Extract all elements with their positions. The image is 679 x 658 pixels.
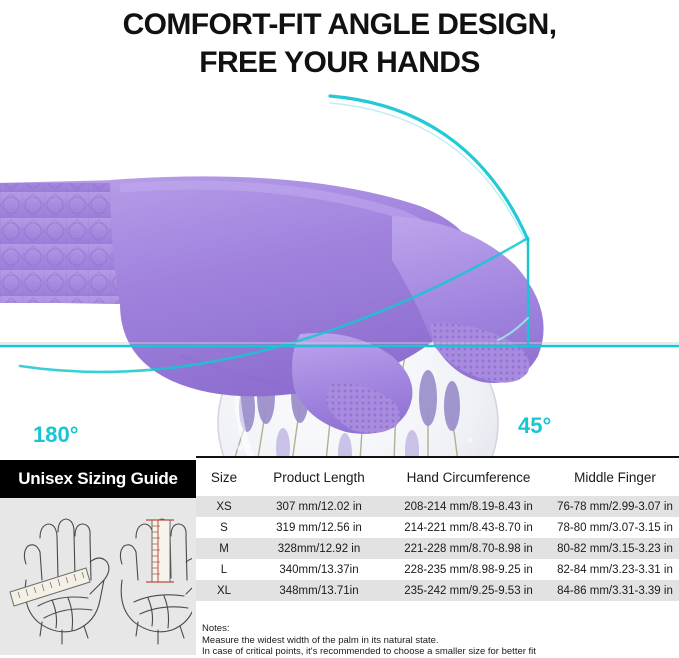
cell-product-length: 328mm/12.92 in — [252, 538, 386, 559]
cell-hand-circumference: 235-242 mm/9.25-9.53 in — [386, 580, 551, 601]
cell-size: XL — [196, 580, 252, 601]
table-row: XS 307 mm/12.02 in 208-214 mm/8.19-8.43 … — [196, 496, 679, 517]
table-row: S 319 mm/12.56 in 214-221 mm/8.43-8.70 i… — [196, 517, 679, 538]
cell-middle-finger: 82-84 mm/3.23-3.31 in — [551, 559, 679, 580]
hand-measure-diagrams — [4, 502, 192, 652]
cell-size: XS — [196, 496, 252, 517]
sizing-table: Size Product Length Hand Circumference M… — [196, 458, 679, 601]
notes-line-2: In case of critical points, it's recomme… — [202, 646, 666, 658]
hero-illustration — [0, 88, 679, 456]
cell-middle-finger: 80-82 mm/3.15-3.23 in — [551, 538, 679, 559]
cell-size: L — [196, 559, 252, 580]
column-header-hand-circumference: Hand Circumference — [386, 458, 551, 496]
vertical-ruler-icon — [146, 520, 174, 582]
cell-hand-circumference: 228-235 mm/8.98-9.25 in — [386, 559, 551, 580]
cell-hand-circumference: 214-221 mm/8.43-8.70 in — [386, 517, 551, 538]
cell-product-length: 319 mm/12.56 in — [252, 517, 386, 538]
table-header-row: Size Product Length Hand Circumference M… — [196, 458, 679, 496]
sizing-guide-badge: Unisex Sizing Guide — [0, 460, 196, 498]
cell-size: S — [196, 517, 252, 538]
column-header-middle-finger: Middle Finger — [551, 458, 679, 496]
cell-hand-circumference: 221-228 mm/8.70-8.98 in — [386, 538, 551, 559]
cell-middle-finger: 78-80 mm/3.07-3.15 in — [551, 517, 679, 538]
sizing-notes: Notes: Measure the widest width of the p… — [196, 623, 666, 658]
headline-line-1: COMFORT-FIT ANGLE DESIGN, — [123, 6, 557, 44]
table-row: L 340mm/13.37in 228-235 mm/8.98-9.25 in … — [196, 559, 679, 580]
headline-line-2: FREE YOUR HANDS — [199, 44, 479, 82]
cell-middle-finger: 76-78 mm/2.99-3.07 in — [551, 496, 679, 517]
column-header-product-length: Product Length — [252, 458, 386, 496]
column-header-size: Size — [196, 458, 252, 496]
hand-measurement-panel — [0, 498, 196, 655]
hero-image: 180° 45° — [0, 88, 679, 456]
sizing-guide-section: Unisex Sizing Guide — [0, 456, 679, 655]
cell-hand-circumference: 208-214 mm/8.19-8.43 in — [386, 496, 551, 517]
table-row: XL 348mm/13.71in 235-242 mm/9.25-9.53 in… — [196, 580, 679, 601]
cell-product-length: 348mm/13.71in — [252, 580, 386, 601]
cell-size: M — [196, 538, 252, 559]
table-row: M 328mm/12.92 in 221-228 mm/8.70-8.98 in… — [196, 538, 679, 559]
angle-label-45: 45° — [518, 413, 551, 439]
notes-line-1: Measure the widest width of the palm in … — [202, 635, 666, 647]
table-top-rule — [196, 456, 679, 458]
notes-title: Notes: — [202, 623, 666, 635]
angle-label-180: 180° — [33, 422, 79, 448]
headline-block: COMFORT-FIT ANGLE DESIGN, FREE YOUR HAND… — [0, 0, 679, 92]
cell-product-length: 340mm/13.37in — [252, 559, 386, 580]
product-infographic: COMFORT-FIT ANGLE DESIGN, FREE YOUR HAND… — [0, 0, 679, 655]
cell-product-length: 307 mm/12.02 in — [252, 496, 386, 517]
sizing-guide-badge-label: Unisex Sizing Guide — [18, 469, 178, 489]
cell-middle-finger: 84-86 mm/3.31-3.39 in — [551, 580, 679, 601]
